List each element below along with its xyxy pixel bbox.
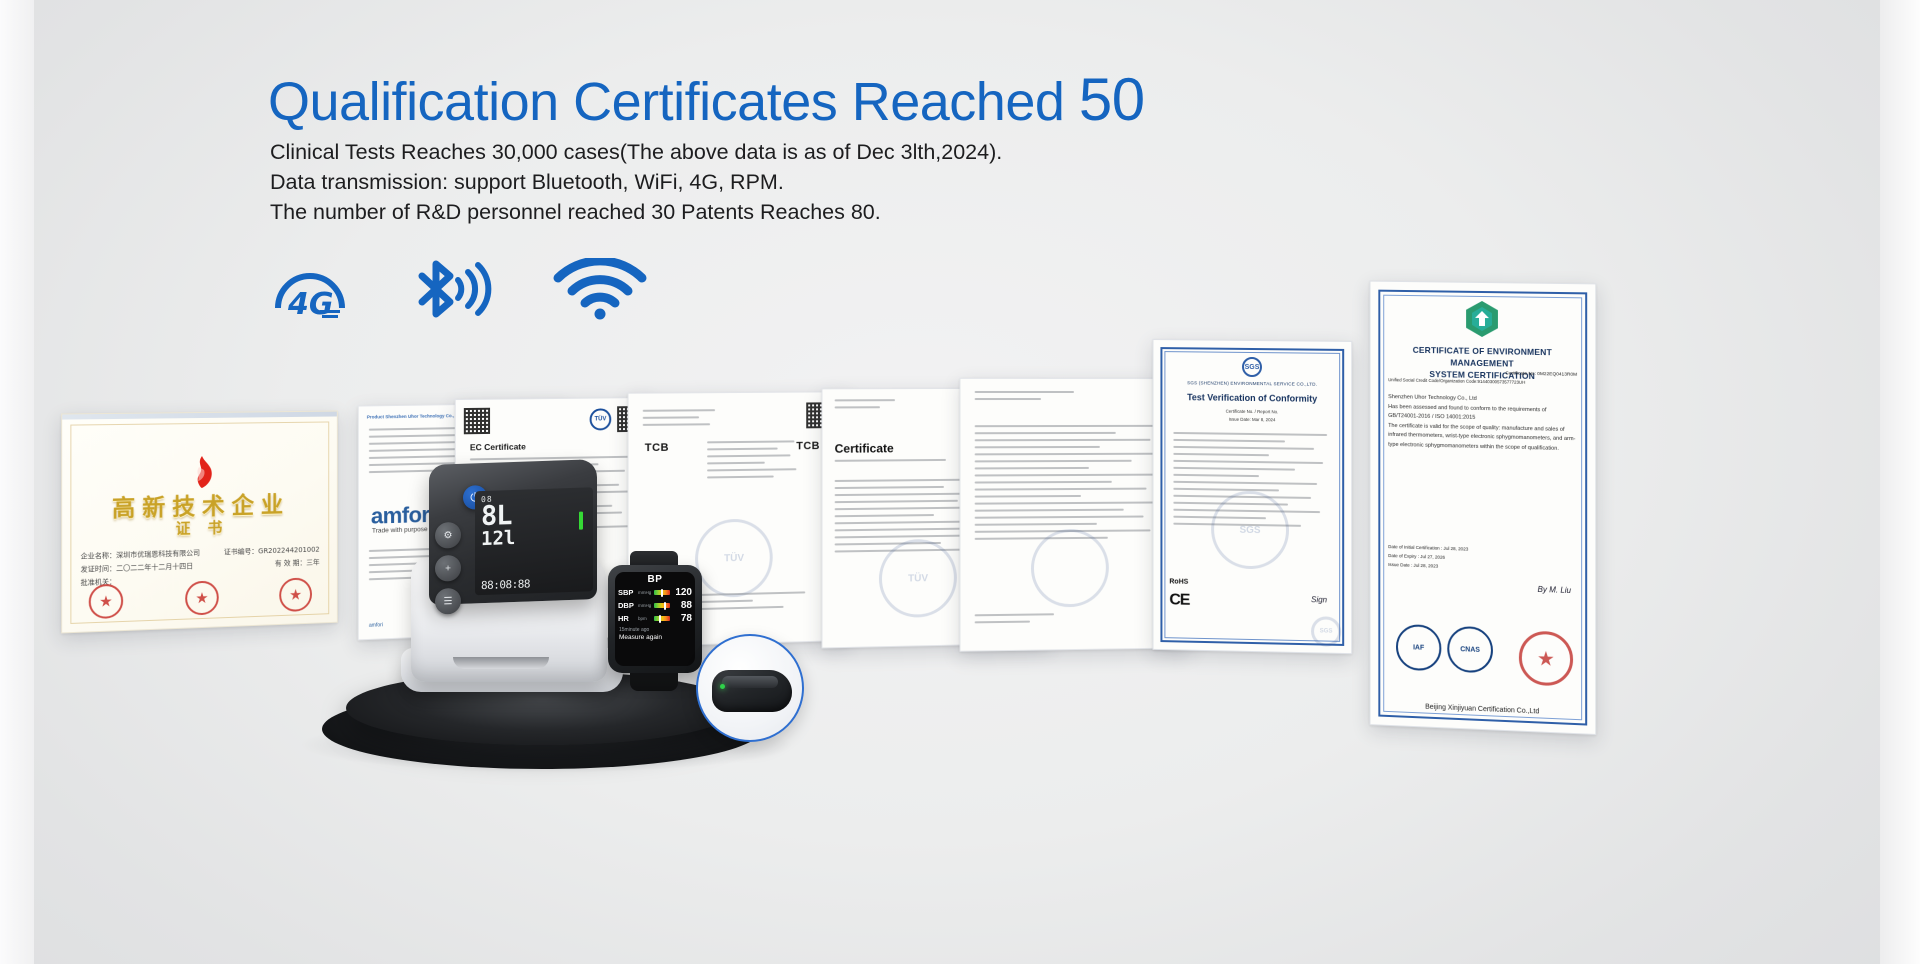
watch-sbp-value: 120 — [672, 587, 692, 598]
watch-case: BP SBP mmHg 120 DBP mmHg 88 HR bpm — [608, 565, 702, 673]
page-title-number: 50 — [1079, 66, 1145, 133]
subtitle-line-2: Data transmission: support Bluetooth, Wi… — [270, 168, 1002, 197]
bpm-button-column: ⚙ + ☰ — [435, 522, 467, 622]
embossed-watermark-seal — [1031, 529, 1109, 608]
hero-banner: Qualification Certificates Reached 50 Cl… — [0, 0, 1920, 964]
iaf-seal-icon: IAF — [1396, 624, 1441, 672]
lcd-line-bottom: 88:08:88 — [481, 577, 530, 592]
wrist-cuff-callout — [696, 634, 804, 742]
sgs-logo-icon: SGS — [1242, 357, 1262, 377]
watch-dbp-label: DBP — [618, 601, 636, 610]
lcd-line-systolic: 8L — [481, 503, 515, 529]
ce-mark-icon: CE — [1169, 591, 1189, 609]
watch-dbp-scale — [654, 603, 670, 608]
lcd-line-top: 08 — [481, 494, 515, 504]
bpm-lcd-digits: 08 8L 12l — [481, 494, 515, 549]
cert3-title: EC Certificate — [470, 441, 526, 452]
red-seal-icon — [89, 584, 123, 620]
certificate-high-tech-enterprise[interactable]: 高新技术企业 证 书 企业名称：深圳市优瑞恩科技有限公司证书编号：GR20224… — [61, 411, 338, 634]
hexagon-logo-icon — [1463, 299, 1501, 340]
tuv-badge-icon: TÜV — [590, 408, 612, 430]
cert6-header-lines — [975, 391, 1085, 405]
connectivity-icon-row: 4G — [272, 258, 648, 320]
watch-hr-unit: bpm — [638, 616, 652, 621]
certificate-test-verification-of-conformity[interactable]: SGS SGS (SHENZHEN) ENVIRONMENTAL SERVICE… — [1153, 339, 1353, 654]
watch-screen-title: BP — [615, 574, 695, 585]
qr-code-icon — [464, 408, 490, 435]
arm-blood-pressure-monitor: ⏻ ⚙ + ☰ 08 8L 12l 88:08:88 — [405, 452, 625, 702]
watch-row-sbp: SBP mmHg 120 — [615, 587, 695, 598]
cert1-top-band — [62, 412, 337, 420]
cert7-signature: Sign — [1311, 595, 1327, 604]
bpm-cuff-slot — [453, 657, 549, 669]
watch-sbp-label: SBP — [618, 588, 636, 597]
red-seal-icon — [185, 580, 219, 615]
memory-button[interactable]: ⚙ — [435, 522, 461, 549]
cert6-footer-lines — [975, 613, 1085, 628]
watch-row-hr: HR bpm 78 — [615, 613, 695, 624]
watch-dbp-value: 88 — [672, 600, 692, 611]
wifi-icon — [552, 258, 648, 320]
plus-button[interactable]: + — [435, 555, 461, 582]
watch-hr-scale — [654, 616, 670, 621]
watch-sbp-scale — [654, 590, 670, 595]
cert2-footer-mark: amfori — [369, 622, 383, 629]
cert2-header-left: Product Shenzhen Uhor Technology Co., Lt… — [367, 413, 463, 420]
cert8-body-text: Shenzhen Uhor Technology Co., Ltd Has be… — [1388, 393, 1577, 454]
red-seal-icon — [279, 577, 312, 612]
watch-dbp-unit: mmHg — [638, 603, 652, 608]
cnas-seal-icon: CNAS — [1447, 626, 1493, 674]
cert4-body-lines-left — [643, 409, 723, 431]
lcd-status-bar — [579, 512, 583, 530]
bp-smartwatch: BP SBP mmHg 120 DBP mmHg 88 HR bpm — [600, 557, 710, 683]
cert4-body-lines-center — [707, 440, 802, 483]
bpm-lcd-screen: 08 8L 12l 88:08:88 — [475, 487, 593, 595]
cert8-title-line1: CERTIFICATE OF ENVIRONMENT MANAGEMENT — [1413, 345, 1552, 369]
4g-icon: 4G — [272, 258, 348, 320]
bpm-screen-housing: ⏻ ⚙ + ☰ 08 8L 12l 88:08:88 — [429, 459, 597, 605]
watch-hr-value: 78 — [672, 613, 692, 624]
cert5-header-lines — [835, 399, 905, 413]
cuff-illustration — [712, 670, 792, 712]
watch-sbp-unit: mmHg — [638, 590, 652, 595]
flame-emblem-icon — [187, 455, 217, 490]
bluetooth-icon — [408, 258, 492, 320]
cert1-row2-right: 有 效 期：三年 — [275, 556, 320, 570]
watch-measure-again-button[interactable]: Measure again — [615, 634, 695, 641]
watch-display[interactable]: BP SBP mmHg 120 DBP mmHg 88 HR bpm — [615, 572, 695, 666]
subtitle-line-3: The number of R&D personnel reached 30 P… — [270, 198, 1002, 227]
embossed-watermark-seal: SGS — [1211, 490, 1289, 569]
sensor-led-icon — [720, 684, 725, 689]
watch-row-dbp: DBP mmHg 88 — [615, 600, 695, 611]
lcd-line-diastolic: 12l — [481, 528, 515, 549]
user-button[interactable]: ☰ — [435, 588, 461, 615]
subtitle-block: Clinical Tests Reaches 30,000 cases(The … — [270, 138, 1002, 228]
cert6-body-lines — [975, 425, 1171, 545]
rohs-mark: RoHS — [1169, 578, 1188, 585]
page-title-text: Qualification Certificates Reached — [268, 72, 1079, 132]
watch-timestamp: 15minute ago — [615, 627, 695, 633]
page-title: Qualification Certificates Reached 50 — [268, 68, 1145, 133]
plus-icon: + — [445, 563, 451, 574]
cert8-dates: Date of Initial Certification : Jul 28, … — [1388, 542, 1468, 571]
certificate-environment-management-system[interactable]: CERTIFICATE OF ENVIRONMENT MANAGEMENT SY… — [1370, 281, 1597, 735]
cert4-tcb-label-left: TCB — [645, 442, 669, 454]
menu-icon: ☰ — [444, 596, 453, 607]
embossed-watermark-seal: TÜV — [879, 539, 957, 618]
cert8-signature: By M. Liu — [1538, 585, 1571, 595]
subtitle-line-1: Clinical Tests Reaches 30,000 cases(The … — [270, 138, 1002, 167]
sgs-footer-seal: SGS — [1311, 616, 1341, 647]
cert5-title: Certificate — [835, 441, 894, 456]
gear-icon: ⚙ — [444, 530, 453, 541]
watch-hr-label: HR — [618, 614, 636, 623]
